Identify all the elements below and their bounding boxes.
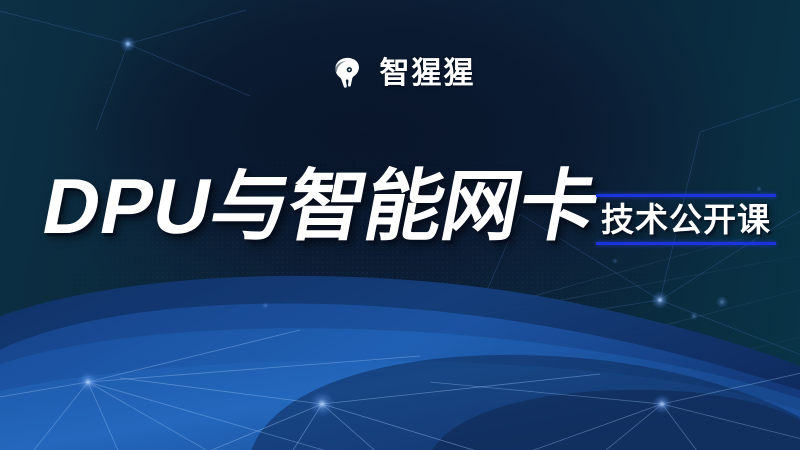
brand-name: 智猩猩 bbox=[380, 59, 476, 89]
ape-head-logo-icon bbox=[325, 52, 369, 96]
poster-canvas: 智猩猩 DPU与智能网卡 技术公开课 bbox=[0, 0, 800, 450]
network-node-glow bbox=[120, 36, 136, 52]
network-node-glow bbox=[652, 394, 672, 414]
network-node-glow bbox=[77, 371, 99, 393]
subtitle-text: 技术公开课 bbox=[596, 202, 776, 238]
page-title-cjk: 与智能网卡 bbox=[203, 162, 606, 252]
network-node-glow bbox=[309, 391, 335, 417]
subtitle-rule-bottom bbox=[596, 242, 776, 245]
brand-logo-lockup: 智猩猩 bbox=[0, 52, 800, 96]
page-title: DPU与智能网卡 bbox=[36, 168, 604, 245]
subtitle-rule-top bbox=[596, 194, 776, 197]
subtitle-block: 技术公开课 bbox=[596, 194, 776, 245]
page-title-latin: DPU bbox=[36, 162, 221, 250]
network-node-glow bbox=[651, 291, 669, 309]
headline-row: DPU与智能网卡 bbox=[44, 168, 597, 245]
